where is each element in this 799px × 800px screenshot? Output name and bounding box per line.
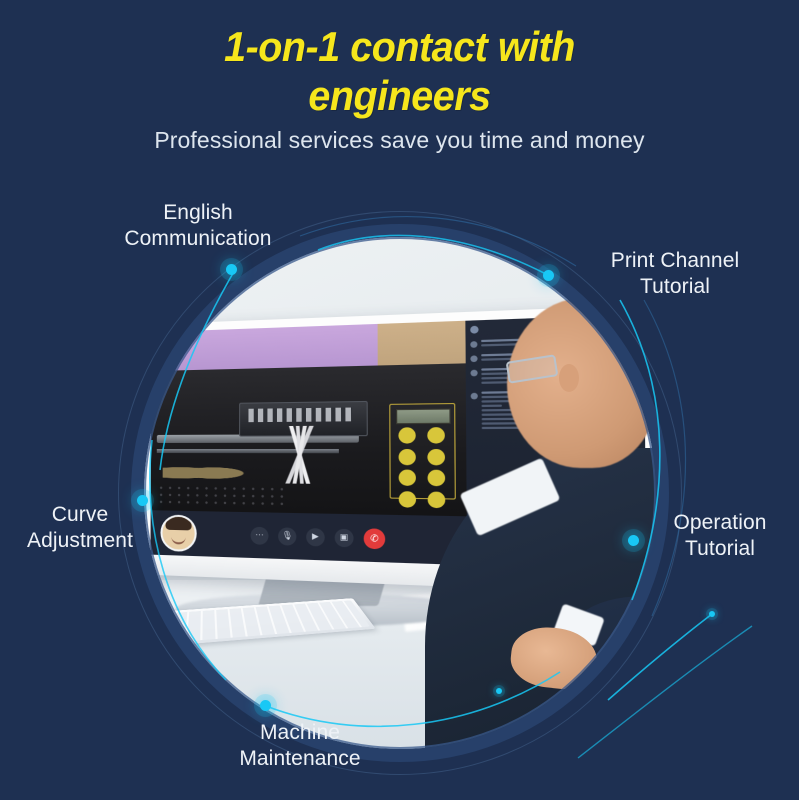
person-ear (559, 364, 579, 392)
vacuum-platen (156, 484, 288, 509)
keypad-button (399, 427, 416, 443)
page-subtitle: Professional services save you time and … (0, 126, 799, 155)
title-line-2: engineers (24, 71, 775, 120)
keypad-button (428, 427, 446, 443)
person-on-call (445, 298, 665, 758)
node-dot-accent-a (496, 688, 502, 694)
ink-cups (162, 463, 245, 483)
person-head (507, 298, 657, 468)
printer-keypad (395, 427, 449, 493)
printer-machine (151, 364, 467, 517)
office-video-call-photo: ··· 🎙 ▶ ▣ ✆ (135, 228, 665, 758)
more-options-icon[interactable]: ··· (251, 526, 269, 544)
feature-label-english-communication[interactable]: English Communication (88, 200, 308, 252)
keypad-button (399, 470, 416, 486)
hero-photo-circle: ··· 🎙 ▶ ▣ ✆ (135, 228, 665, 758)
call-buttons: ··· 🎙 ▶ ▣ ✆ (251, 525, 386, 549)
keypad-button (399, 491, 416, 507)
video-call-pane: ··· 🎙 ▶ ▣ ✆ (150, 321, 466, 565)
keypad-button (428, 492, 446, 509)
participant-avatar (160, 514, 196, 552)
feature-label-print-channel-tutorial[interactable]: Print Channel Tutorial (560, 248, 790, 300)
page-title: 1-on-1 contact with engineers (24, 22, 775, 120)
node-dot-english (226, 264, 237, 275)
printer-lcd-display (396, 408, 450, 424)
node-dot-operation (628, 535, 639, 546)
keypad-button (399, 449, 416, 465)
node-dot-machine (260, 700, 271, 711)
ink-tubes (258, 425, 346, 484)
end-call-icon[interactable]: ✆ (364, 528, 386, 549)
feature-label-curve-adjustment[interactable]: Curve Adjustment (0, 502, 160, 554)
keypad-button (428, 470, 446, 486)
feature-label-operation-tutorial[interactable]: Operation Tutorial (640, 510, 799, 562)
share-screen-icon[interactable]: ▣ (335, 528, 354, 547)
feature-label-machine-maintenance[interactable]: Machine Maintenance (190, 720, 410, 772)
camera-icon[interactable]: ▶ (306, 527, 325, 546)
video-feed (151, 321, 467, 517)
infographic-canvas: 1-on-1 contact with engineers Profession… (0, 0, 799, 800)
print-head-chips (248, 408, 352, 422)
node-dot-print-channel (543, 270, 554, 281)
title-line-1: 1-on-1 contact with (24, 22, 775, 71)
node-dot-accent-b (709, 611, 715, 617)
microphone-icon[interactable]: 🎙 (278, 527, 296, 545)
keypad-button (428, 449, 446, 465)
